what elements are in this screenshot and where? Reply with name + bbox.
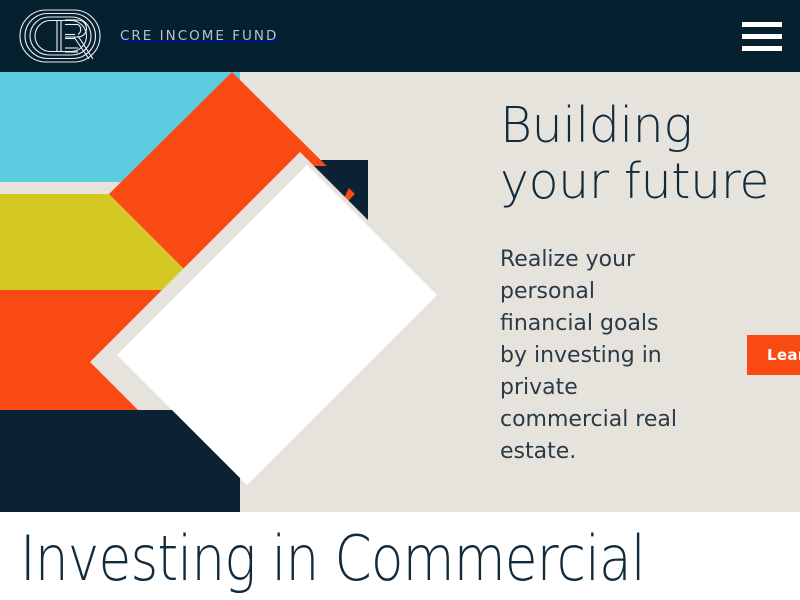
below-fold-section: Investing in Commercial <box>0 512 800 600</box>
menu-bar-middle <box>742 34 782 39</box>
hero-geometric-artwork <box>0 72 460 512</box>
learn-more-button[interactable]: Learn More <box>747 335 800 375</box>
hamburger-menu-icon[interactable] <box>742 18 786 54</box>
cre-monogram-logo-icon <box>16 7 102 65</box>
brand-logo-link[interactable]: CRE INCOME FUND <box>16 7 278 65</box>
menu-bar-top <box>742 22 782 27</box>
hero-subtitle: Realize your personal financial goals by… <box>500 244 680 468</box>
site-header: CRE INCOME FUND <box>0 0 800 72</box>
hero-copy-block: Building your future Realize your person… <box>500 72 800 512</box>
page-root: CRE INCOME FUND <box>0 0 800 600</box>
brand-name-text: CRE INCOME FUND <box>120 28 278 44</box>
section-heading: Investing in Commercial <box>20 522 645 596</box>
menu-bar-bottom <box>742 46 782 51</box>
hero-title: Building your future <box>500 98 790 210</box>
hero-section: Building your future Realize your person… <box>0 72 800 512</box>
